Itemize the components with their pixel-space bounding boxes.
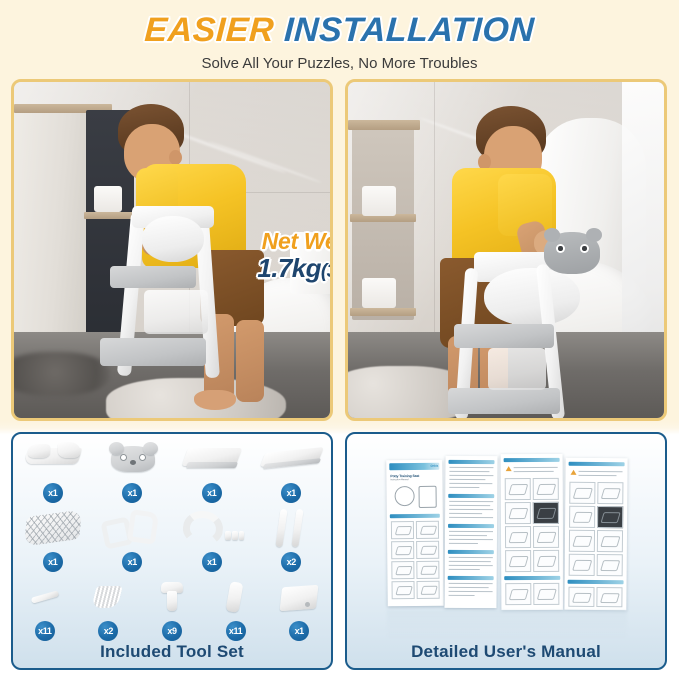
text-line bbox=[449, 565, 493, 566]
manual-step-cell bbox=[505, 583, 531, 605]
manual-step-cell bbox=[533, 502, 559, 524]
included-tool-set-panel: x1 x1 bbox=[11, 432, 333, 670]
qty-badge: x2 bbox=[281, 552, 301, 572]
manual-page-cover: Orbis Potty Training Seat Instruction Ma… bbox=[386, 460, 444, 607]
manual-figure-cell bbox=[416, 541, 439, 559]
tool-item-anti-slip-mesh-pad: x1 bbox=[22, 507, 84, 572]
text-line bbox=[449, 591, 493, 592]
manual-step-cell bbox=[597, 506, 623, 528]
tool-item-long-support-rods: x2 bbox=[260, 507, 322, 572]
tool-grid: x1 x1 bbox=[13, 438, 331, 641]
title-word-installation: INSTALLATION bbox=[283, 11, 535, 49]
part-shape bbox=[28, 444, 50, 458]
manual-figure-cell bbox=[416, 521, 439, 539]
text-line bbox=[514, 467, 558, 468]
manual-step-cell bbox=[568, 587, 594, 607]
text-line bbox=[449, 471, 489, 472]
toilet-paper-roll bbox=[94, 186, 122, 212]
manual-step-cell bbox=[597, 554, 623, 576]
qty-badge: x9 bbox=[162, 621, 182, 641]
section-bar bbox=[448, 494, 494, 498]
part-art-triangular-side-frames bbox=[101, 507, 163, 549]
part-art-spring-clip bbox=[82, 576, 134, 618]
qty-badge: x1 bbox=[43, 483, 63, 503]
bottom-row: x1 x1 bbox=[11, 432, 668, 670]
section-bar bbox=[504, 576, 560, 580]
text-line bbox=[449, 569, 480, 570]
title-word-easier: EASIER bbox=[144, 11, 276, 49]
clip-shape bbox=[225, 531, 231, 540]
part-art-upper-step-platform bbox=[181, 438, 243, 480]
qty-badge: x2 bbox=[98, 621, 118, 641]
text-line bbox=[449, 587, 489, 588]
part-art-short-pin-rod bbox=[19, 576, 71, 618]
text-line bbox=[449, 539, 493, 540]
tool-item-bear-splash-guard: x1 bbox=[101, 438, 163, 503]
qty-badge: x11 bbox=[35, 621, 55, 641]
qty-badge: x11 bbox=[226, 621, 246, 641]
text-line bbox=[449, 475, 493, 476]
tool-item-triangular-side-frames: x1 bbox=[101, 507, 163, 572]
product-upper-step bbox=[454, 324, 554, 348]
user-manual-panel: Orbis Potty Training Seat Instruction Ma… bbox=[345, 432, 667, 670]
section-bar bbox=[448, 576, 494, 580]
text-line bbox=[579, 471, 623, 472]
product-upper-step bbox=[110, 266, 196, 288]
bear-ear-shape bbox=[143, 442, 158, 455]
tool-row: x11 x2 x9 bbox=[13, 576, 331, 641]
tool-item-lower-step-platform: x1 bbox=[260, 438, 322, 503]
tool-item-screw-bolt: x9 bbox=[146, 576, 198, 641]
manual-step-cell bbox=[533, 550, 559, 572]
manual-step-cell bbox=[597, 482, 623, 504]
qty-badge: x1 bbox=[122, 483, 142, 503]
qty-badge: x1 bbox=[289, 621, 309, 641]
manual-reflection bbox=[387, 610, 627, 638]
manual-figure-cell bbox=[416, 561, 439, 579]
text-line bbox=[449, 517, 493, 518]
manual-figure-cell bbox=[392, 581, 415, 599]
product-mesh-back bbox=[488, 348, 546, 390]
included-tool-set-caption: Included Tool Set bbox=[13, 642, 331, 662]
product-mesh-back bbox=[144, 290, 208, 334]
section-bar bbox=[569, 462, 625, 466]
part-art-hex-wrench-plate bbox=[273, 576, 325, 618]
section-bar bbox=[504, 458, 560, 462]
text-line bbox=[449, 505, 490, 506]
photo-boy-carrying-folded-potty-ladder: Net Weight 1.7kg(3.75lb) bbox=[11, 79, 333, 421]
manual-figure-cell bbox=[391, 561, 414, 579]
qty-badge: x1 bbox=[122, 552, 142, 572]
leg bbox=[236, 320, 264, 402]
part-art-plastic-sleeve bbox=[210, 576, 262, 618]
manual-figure-cell bbox=[391, 521, 414, 539]
towel-roll bbox=[362, 278, 396, 308]
tool-item-upper-step-platform: x1 bbox=[181, 438, 243, 503]
part-shape bbox=[58, 442, 80, 458]
bear-ear bbox=[544, 228, 560, 242]
page-title: EASIER INSTALLATION bbox=[0, 10, 679, 50]
page-subtitle: Solve All Your Puzzles, No More Troubles bbox=[0, 54, 679, 74]
ring-shape bbox=[181, 509, 224, 547]
towel-roll bbox=[362, 186, 396, 216]
text-line bbox=[449, 583, 493, 584]
text-line bbox=[449, 509, 493, 510]
section-bar bbox=[448, 550, 494, 554]
part-art-u-shaped-seat-ring bbox=[181, 507, 243, 549]
clip-shape bbox=[232, 531, 238, 540]
tool-row: x1 x1 bbox=[13, 507, 331, 572]
bear-eye bbox=[580, 244, 589, 253]
manual-step-cell bbox=[505, 526, 531, 548]
rod-shape bbox=[276, 509, 288, 548]
text-line bbox=[449, 595, 475, 596]
text-line bbox=[449, 561, 491, 562]
infographic-page: EASIER INSTALLATION Solve All Your Puzzl… bbox=[0, 0, 679, 679]
part-art-anti-slip-mesh-pad bbox=[22, 507, 84, 549]
text-line bbox=[449, 531, 493, 532]
manual-figure-cell bbox=[417, 581, 440, 599]
manual-step-cell bbox=[505, 478, 531, 500]
manual-figure-cell bbox=[391, 541, 414, 559]
photo-row: Net Weight 1.7kg(3.75lb) bbox=[11, 79, 668, 421]
rod-shape bbox=[292, 509, 304, 548]
vanity-cabinet bbox=[14, 110, 86, 342]
manual-cover-subtitle: Instruction Manual bbox=[390, 479, 408, 482]
section-bar bbox=[448, 524, 494, 528]
sleeve-shape bbox=[225, 581, 243, 613]
part-art-long-support-rods bbox=[260, 507, 322, 549]
product-seat-ring bbox=[484, 268, 580, 326]
manual-step-cell bbox=[569, 482, 595, 504]
tool-item-plastic-sleeve: x11 bbox=[210, 576, 262, 641]
product-lower-step bbox=[100, 338, 206, 366]
manual-page-steps-a bbox=[501, 454, 564, 610]
tool-item-hex-wrench-plate: x1 bbox=[273, 576, 325, 641]
manual-step-cell bbox=[569, 554, 595, 576]
brand-logo: Orbis bbox=[430, 463, 438, 467]
pin-shape bbox=[31, 590, 60, 603]
part-art-screw-bolt bbox=[146, 576, 198, 618]
cover-diagram-circle bbox=[395, 486, 415, 506]
text-line bbox=[449, 501, 493, 502]
section-bar bbox=[390, 514, 440, 519]
mesh-shape bbox=[23, 509, 82, 546]
text-line bbox=[449, 535, 487, 536]
part-art-lower-step-platform bbox=[260, 438, 322, 480]
part-art-bear-splash-guard bbox=[101, 438, 163, 480]
tool-item-u-shaped-seat-ring: x1 bbox=[181, 507, 243, 572]
niche-top-shelf bbox=[348, 120, 420, 130]
part-art-seat-frame-bracket bbox=[22, 438, 84, 480]
text-line bbox=[449, 557, 493, 558]
manual-step-cell bbox=[533, 478, 559, 500]
plate-shape bbox=[280, 585, 319, 611]
manual-step-cell bbox=[505, 502, 531, 524]
clip-shape bbox=[239, 531, 244, 540]
text-line bbox=[514, 471, 554, 472]
product-lower-step bbox=[448, 388, 560, 414]
tool-row: x1 x1 bbox=[13, 438, 331, 503]
manual-step-cell bbox=[596, 587, 622, 607]
manual-cover-title: Potty Training Seat bbox=[390, 474, 419, 478]
qty-badge: x1 bbox=[202, 483, 222, 503]
text-line bbox=[449, 479, 485, 480]
manual-step-cell bbox=[569, 506, 595, 528]
clip-shape bbox=[92, 586, 123, 608]
qty-badge: x1 bbox=[281, 483, 301, 503]
bear-eye bbox=[556, 244, 565, 253]
manual-page-text bbox=[444, 456, 497, 608]
tool-item-spring-clip: x2 bbox=[82, 576, 134, 641]
qty-badge: x1 bbox=[202, 552, 222, 572]
manual-step-cell bbox=[597, 530, 623, 552]
user-manual-caption: Detailed User's Manual bbox=[347, 642, 665, 662]
tool-item-seat-frame-bracket: x1 bbox=[22, 438, 84, 503]
qty-badge: x1 bbox=[43, 552, 63, 572]
bolt-shank bbox=[167, 591, 177, 611]
toilet-tank bbox=[290, 232, 333, 294]
text-line bbox=[449, 487, 479, 488]
manual-step-cell bbox=[533, 583, 559, 605]
photo-boy-installing-seat-on-toilet bbox=[345, 79, 667, 421]
manual-step-cell bbox=[569, 530, 595, 552]
frame-shape bbox=[127, 509, 159, 545]
text-line bbox=[449, 467, 493, 468]
bear-ear bbox=[586, 228, 602, 242]
header: EASIER INSTALLATION Solve All Your Puzzl… bbox=[0, 0, 679, 72]
text-line bbox=[449, 483, 492, 484]
section-bar bbox=[568, 580, 624, 584]
niche-bottom-shelf bbox=[350, 308, 416, 316]
warning-icon bbox=[571, 470, 577, 475]
manual-step-cell bbox=[533, 526, 559, 548]
warning-icon bbox=[506, 466, 512, 471]
floor-shadow bbox=[11, 352, 110, 396]
manual-step-cell bbox=[505, 550, 531, 572]
text-line bbox=[449, 543, 478, 544]
manual-illustration: Orbis Potty Training Seat Instruction Ma… bbox=[381, 452, 637, 620]
section-bar bbox=[448, 460, 494, 464]
text-line bbox=[579, 475, 617, 476]
text-line bbox=[449, 513, 482, 514]
product-seat-ring bbox=[142, 216, 204, 262]
part-edge bbox=[186, 462, 238, 468]
foot bbox=[194, 390, 236, 410]
cover-diagram-product bbox=[419, 486, 437, 508]
ear bbox=[169, 150, 182, 165]
tool-item-short-pin-rod: x11 bbox=[19, 576, 71, 641]
manual-page-steps-b bbox=[564, 458, 627, 611]
